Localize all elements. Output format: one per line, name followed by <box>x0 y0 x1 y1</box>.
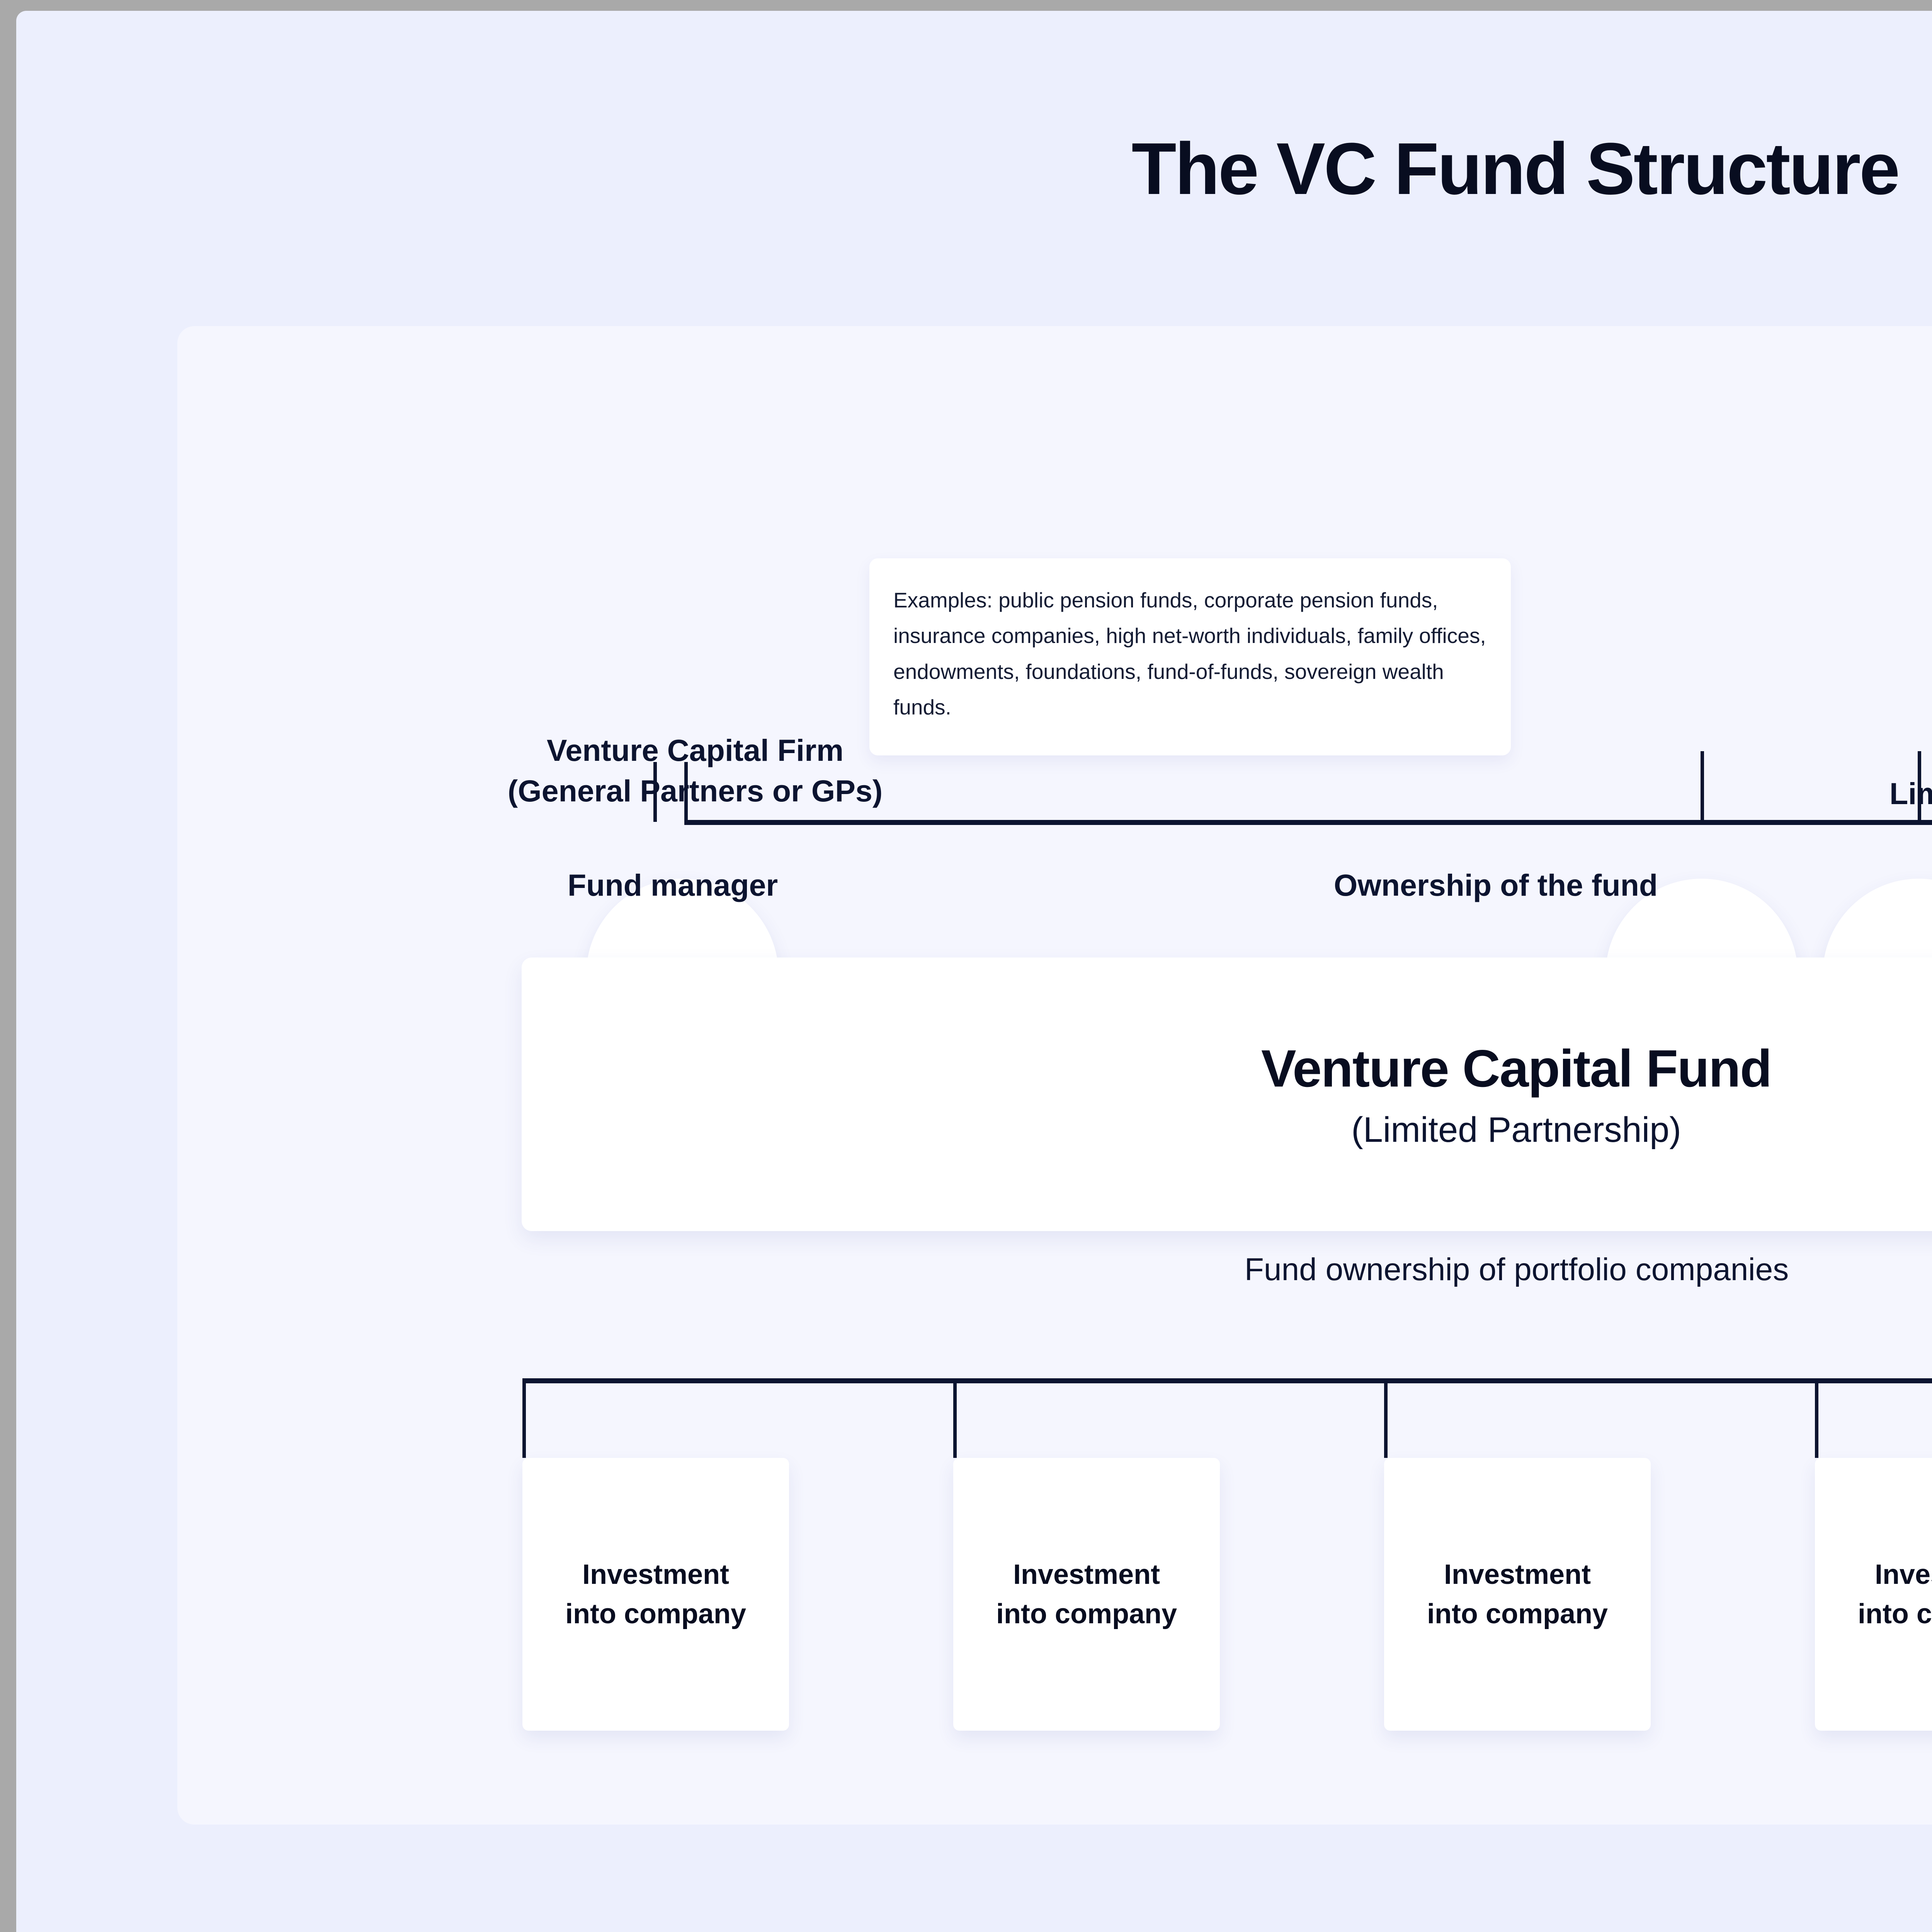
investment-box-1-text: Investment into company <box>556 1555 755 1634</box>
window-frame: The VC Fund Structure Venture Capital Fi… <box>0 0 1932 1932</box>
examples-tooltip: Examples: public pension funds, corporat… <box>869 558 1511 755</box>
connector-vc-fund-manager <box>653 762 657 822</box>
page-canvas: The VC Fund Structure Venture Capital Fi… <box>16 11 1932 1932</box>
fund-box-subtitle: (Limited Partnership) <box>1351 1109 1681 1151</box>
fund-ownership-portfolio-label: Fund ownership of portfolio companies <box>908 1251 1932 1289</box>
investment-box-2-text: Investment into company <box>987 1555 1186 1634</box>
investment-box-1[interactable]: Investment into company <box>522 1458 789 1731</box>
investment-box-4-line2: into company <box>1858 1594 1932 1634</box>
investment-box-4-line1: Investment <box>1858 1555 1932 1594</box>
investment-box-4-text: Investment into company <box>1849 1555 1932 1634</box>
connector-lp-2 <box>1918 751 1921 821</box>
connector-investment-1 <box>522 1378 526 1458</box>
investment-box-2[interactable]: Investment into company <box>953 1458 1220 1731</box>
investment-box-4[interactable]: Investment into company <box>1815 1458 1932 1731</box>
connector-ownership-bus <box>684 820 1932 825</box>
investment-box-3-line1: Investment <box>1427 1555 1608 1594</box>
connector-investment-4 <box>1815 1378 1818 1458</box>
examples-tooltip-text: Examples: public pension funds, corporat… <box>893 582 1487 725</box>
investment-box-2-line1: Investment <box>996 1555 1177 1594</box>
fund-manager-label: Fund manager <box>480 867 866 904</box>
investment-box-3-line2: into company <box>1427 1594 1608 1634</box>
investment-box-3-text: Investment into company <box>1418 1555 1617 1634</box>
connector-portfolio-bus <box>522 1378 1932 1383</box>
page-title: The VC Fund Structure <box>16 129 1932 209</box>
vc-column-label: Venture Capital Firm (General Partners o… <box>483 730 908 811</box>
vc-column-label-line1: Venture Capital Firm <box>483 730 908 770</box>
investment-box-1-line2: into company <box>565 1594 746 1634</box>
vc-column-label-line2: (General Partners or GPs) <box>483 770 908 811</box>
venture-capital-fund-box[interactable]: Venture Capital Fund (Limited Partnershi… <box>522 957 1932 1231</box>
investment-box-2-line2: into company <box>996 1594 1177 1634</box>
diagram-card: Venture Capital Firm (General Partners o… <box>177 326 1932 1825</box>
connector-investment-3 <box>1384 1378 1388 1458</box>
lp-column-label-text: Limited Partners (LPs, Investors) <box>1646 773 1932 814</box>
ownership-of-fund-label: Ownership of the fund <box>1129 867 1863 904</box>
connector-investment-2 <box>953 1378 957 1458</box>
connector-vc-elbow-vertical <box>684 762 688 822</box>
investment-box-3[interactable]: Investment into company <box>1384 1458 1651 1731</box>
connector-lp-1 <box>1701 751 1704 821</box>
fund-box-title: Venture Capital Fund <box>1261 1037 1771 1100</box>
lp-column-label: Limited Partners (LPs, Investors) <box>1646 773 1932 814</box>
investment-box-1-line1: Investment <box>565 1555 746 1594</box>
